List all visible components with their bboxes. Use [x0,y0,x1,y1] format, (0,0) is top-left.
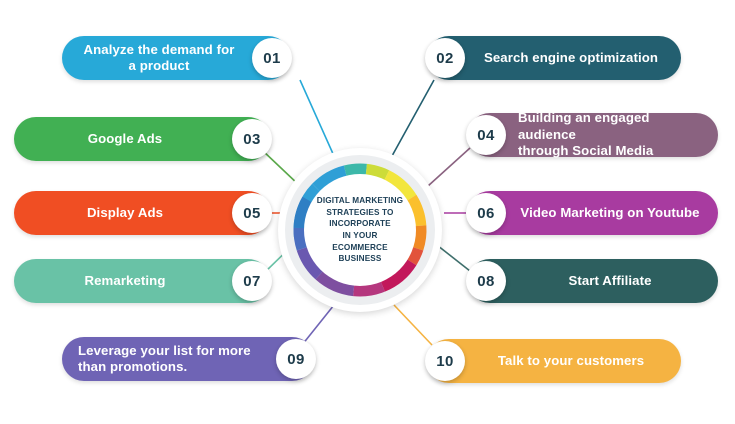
item-number-badge-07[interactable]: 07 [232,261,272,301]
item-number-badge-01[interactable]: 01 [252,38,292,78]
infographic-item-10[interactable]: 10Talk to your customers [425,339,681,383]
item-label-01: Analyze the demand for a product [62,42,256,74]
item-pill-02[interactable]: Search engine optimization [427,36,681,80]
connector-line-02 [392,80,434,156]
infographic-item-06[interactable]: 06Video Marketing on Youtube [466,191,718,235]
item-number-badge-05[interactable]: 05 [232,193,272,233]
item-label-02: Search engine optimization [461,50,681,66]
item-label-10: Talk to your customers [461,353,681,369]
item-number-badge-08[interactable]: 08 [466,261,506,301]
center-hub: DIGITAL MARKETING STRATEGIES TO INCORPOR… [278,148,442,312]
infographic-canvas: Analyze the demand for a product0102Sear… [0,0,735,424]
item-number-badge-06[interactable]: 06 [466,193,506,233]
infographic-item-09[interactable]: Leverage your list for more than promoti… [62,337,316,381]
item-label-06: Video Marketing on Youtube [502,205,718,221]
infographic-item-05[interactable]: Display Ads05 [14,191,272,235]
ring-segment-13 [299,228,302,249]
item-number-badge-09[interactable]: 09 [276,339,316,379]
item-number-badge-03[interactable]: 03 [232,119,272,159]
item-pill-10[interactable]: Talk to your customers [427,339,681,383]
item-label-03: Google Ads [14,131,236,147]
infographic-item-03[interactable]: Google Ads03 [14,117,272,161]
infographic-item-04[interactable]: 04Building an engaged audience through S… [466,113,718,157]
hub-title: DIGITAL MARKETING STRATEGIES TO INCORPOR… [308,195,412,265]
item-label-07: Remarketing [14,273,236,289]
item-number-badge-10[interactable]: 10 [425,341,465,381]
infographic-item-07[interactable]: Remarketing07 [14,259,272,303]
connector-line-01 [300,80,334,156]
ring-segment-3 [345,169,366,171]
infographic-item-08[interactable]: 08Start Affiliate [466,259,718,303]
ring-segment-8 [412,249,418,262]
item-number-badge-02[interactable]: 02 [425,38,465,78]
item-label-09: Leverage your list for more than promoti… [62,343,280,376]
infographic-item-01[interactable]: Analyze the demand for a product01 [62,36,292,80]
item-label-04: Building an engaged audience through Soc… [502,110,718,160]
infographic-item-02[interactable]: 02Search engine optimization [425,36,681,80]
ring-segment-7 [418,226,421,249]
item-label-05: Display Ads [14,205,236,221]
ring-segment-10 [354,287,383,291]
item-label-08: Start Affiliate [502,273,718,289]
hub-center-disc: DIGITAL MARKETING STRATEGIES TO INCORPOR… [304,174,416,286]
item-number-badge-04[interactable]: 04 [466,115,506,155]
